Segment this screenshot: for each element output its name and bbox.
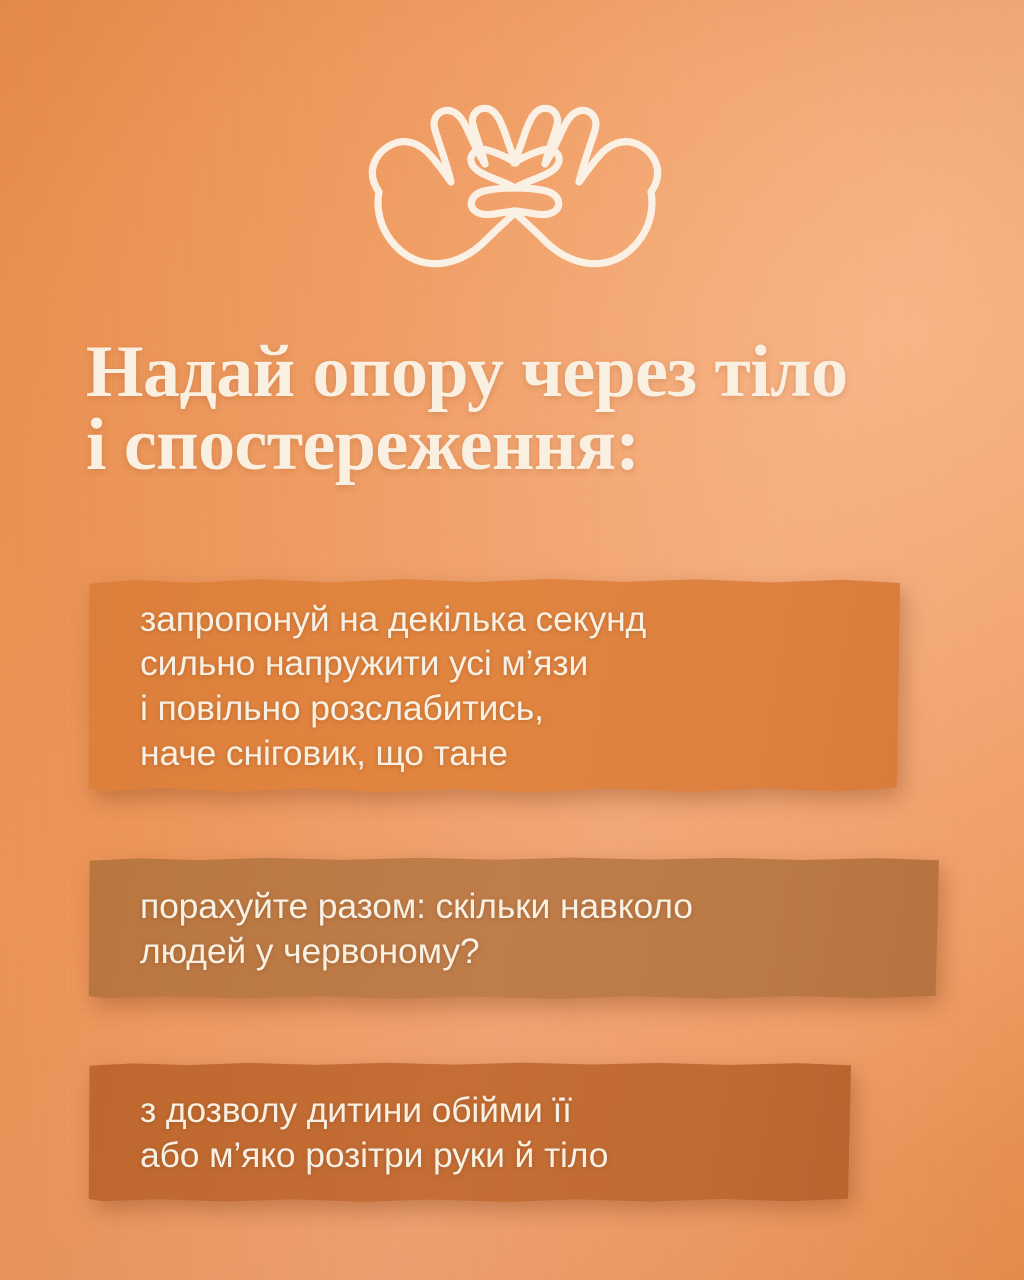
advice-block-1: запропонуй на декілька секунд сильно нап… [88, 578, 900, 794]
open-hands-icon [335, 100, 695, 290]
page-title-line-1: Надай опору через тіло [86, 336, 976, 409]
advice-block-3: з дозволу дитини обійми її або м’яко роз… [88, 1062, 851, 1203]
advice-block-2: порахуйте разом: скільки навколо людей у… [88, 857, 939, 1000]
poster-canvas: Надай опору через тіло і спостереження: … [0, 0, 1024, 1280]
page-title-line-2: і спостереження: [86, 409, 976, 482]
advice-block-2-text: порахуйте разом: скільки навколо людей у… [88, 884, 693, 973]
advice-block-1-text: запропонуй на декілька секунд сильно нап… [88, 597, 646, 775]
advice-block-3-text: з дозволу дитини обійми її або м’яко роз… [88, 1088, 608, 1177]
page-title: Надай опору через тіло і спостереження: [86, 336, 976, 483]
